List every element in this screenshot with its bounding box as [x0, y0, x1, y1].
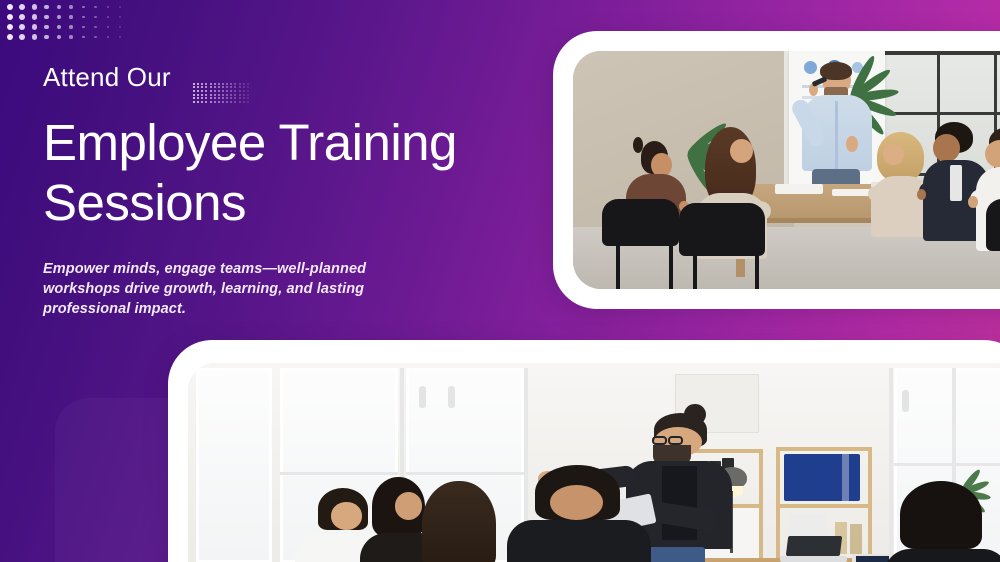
photo-classroom — [188, 363, 1000, 562]
copy-block: Attend Our Employee Training Sessions Em… — [43, 62, 513, 319]
eyebrow-text: Attend Our — [43, 62, 513, 93]
subtitle-text: Empower minds, engage teams—well-planned… — [43, 259, 383, 319]
photo-card-meeting-room — [553, 31, 1000, 309]
training-sessions-banner: Attend Our Employee Training Sessions Em… — [0, 0, 1000, 562]
photo-meeting-room — [573, 51, 1000, 289]
page-title: Employee Training Sessions — [43, 113, 473, 233]
photo-card-classroom — [168, 340, 1000, 562]
dot-grid-top-left-icon — [4, 2, 126, 42]
